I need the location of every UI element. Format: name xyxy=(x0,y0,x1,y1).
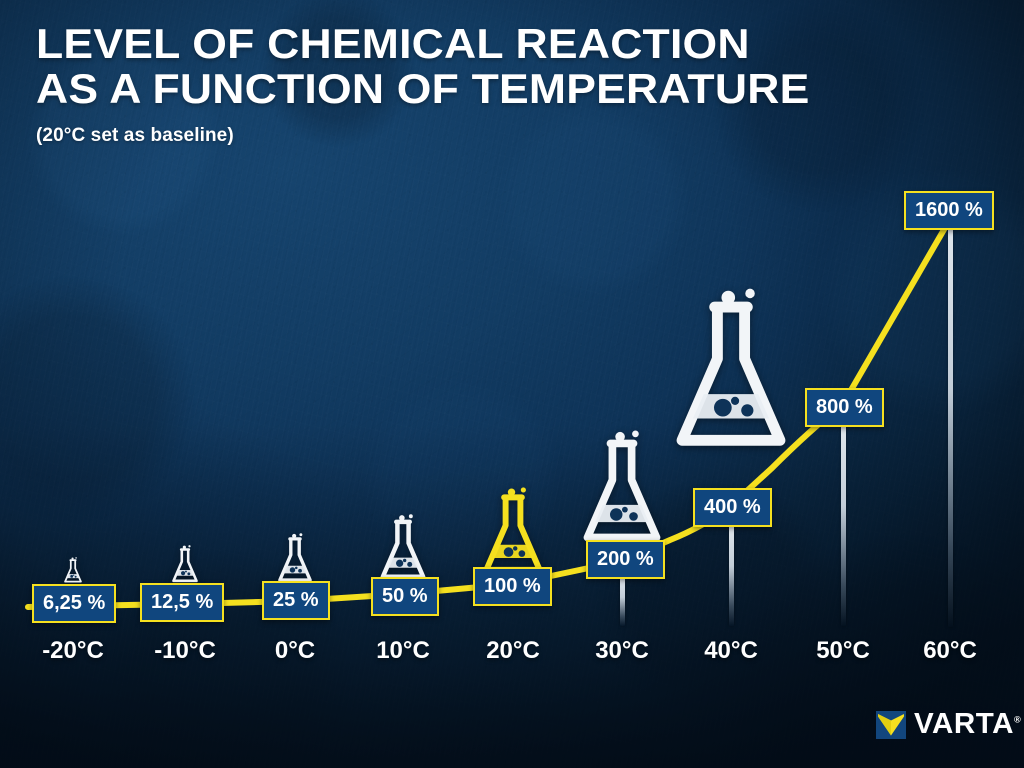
x-axis-label: 0°C xyxy=(275,637,315,665)
value-label-box[interactable]: 800 % xyxy=(805,388,884,427)
trademark-icon: ® xyxy=(1014,714,1021,724)
value-label-box[interactable]: 400 % xyxy=(693,488,772,527)
chart-area: 6,25 %12,5 %25 %50 %100 %200 %400 %800 %… xyxy=(0,0,1024,768)
value-label-box[interactable]: 50 % xyxy=(371,577,439,616)
x-axis-label: -10°C xyxy=(154,637,216,665)
x-axis-label: 40°C xyxy=(704,637,758,665)
varta-wordmark: VARTA® xyxy=(914,708,1021,741)
varta-logo: VARTA® xyxy=(876,708,1020,741)
x-axis-label: -20°C xyxy=(42,637,104,665)
value-label-box[interactable]: 100 % xyxy=(473,567,552,606)
x-axis-label: 20°C xyxy=(486,637,540,665)
x-axis-label: 50°C xyxy=(816,637,870,665)
varta-wordmark-text: VARTA xyxy=(914,708,1014,740)
value-label-box[interactable]: 1600 % xyxy=(904,191,994,230)
x-axis-label: 60°C xyxy=(923,637,977,665)
value-label-box[interactable]: 200 % xyxy=(586,540,665,579)
value-label-box[interactable]: 6,25 % xyxy=(32,584,116,623)
infographic-root: LEVEL OF CHEMICAL REACTION AS A FUNCTION… xyxy=(0,0,1024,768)
x-axis-label: 30°C xyxy=(595,637,649,665)
x-axis-label: 10°C xyxy=(376,637,430,665)
value-label-box[interactable]: 25 % xyxy=(262,581,330,620)
value-label-box[interactable]: 12,5 % xyxy=(140,583,224,622)
varta-cube-icon xyxy=(876,710,906,740)
